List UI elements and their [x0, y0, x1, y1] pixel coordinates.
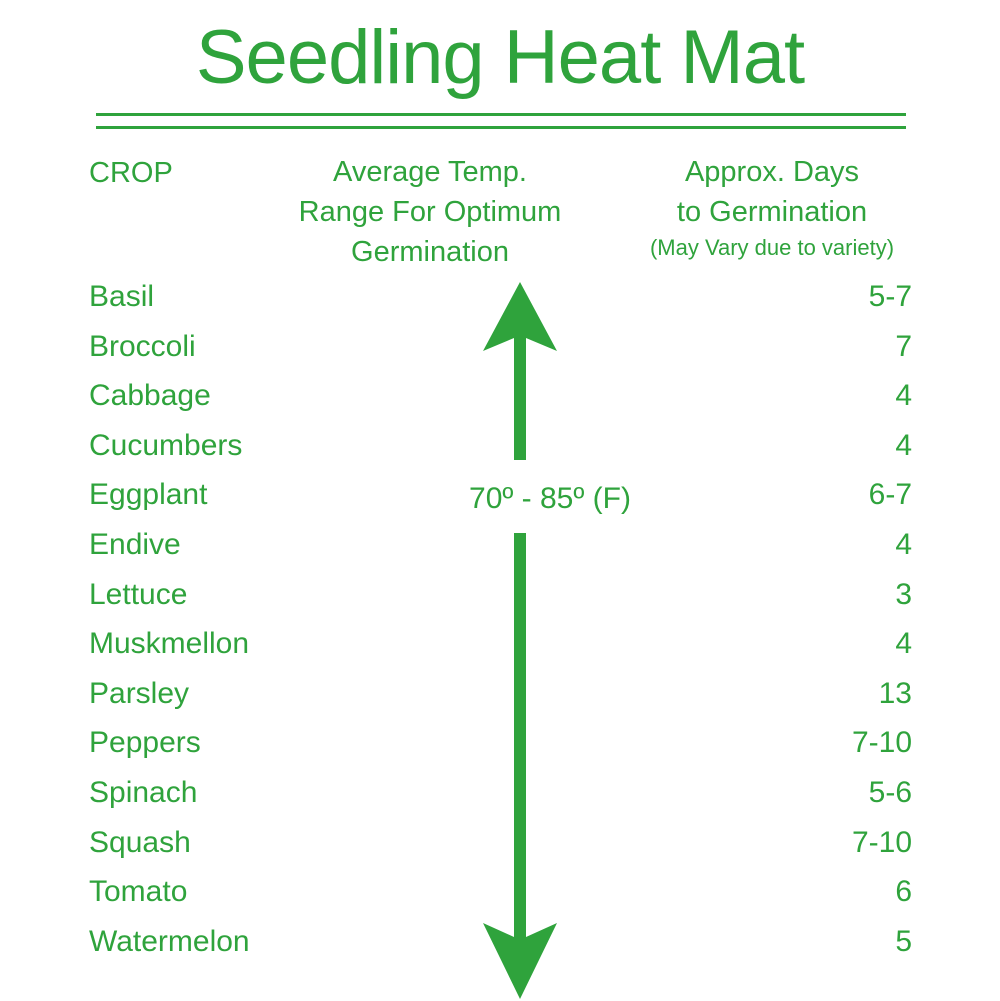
days-to-germination: 4	[895, 525, 912, 565]
crop-name: Tomato	[89, 872, 187, 912]
days-to-germination: 3	[895, 575, 912, 615]
column-header-temperature: Average Temp. Range For Optimum Germinat…	[280, 152, 580, 272]
crop-name: Eggplant	[89, 475, 207, 515]
crop-name: Endive	[89, 525, 181, 565]
arrow-up-icon	[476, 280, 564, 462]
crop-name: Spinach	[89, 773, 197, 813]
days-to-germination: 7-10	[852, 823, 912, 863]
page-title: Seedling Heat Mat	[90, 18, 910, 98]
column-header-days-line1: Approx. Days	[632, 152, 912, 192]
days-to-germination: 4	[895, 624, 912, 664]
days-to-germination: 7	[895, 327, 912, 367]
column-header-crop: CROP	[89, 154, 173, 192]
column-header-temperature-line3: Germination	[280, 232, 580, 272]
crop-name: Parsley	[89, 674, 189, 714]
days-to-germination: 13	[879, 674, 912, 714]
days-to-germination: 5-6	[869, 773, 912, 813]
column-header-temperature-line1: Average Temp.	[280, 152, 580, 192]
column-header-days-note: (May Vary due to variety)	[632, 232, 912, 264]
days-to-germination: 5	[895, 922, 912, 962]
crop-name: Basil	[89, 277, 154, 317]
crop-name: Watermelon	[89, 922, 250, 962]
crop-name: Cucumbers	[89, 426, 242, 466]
arrow-down-icon	[476, 531, 564, 1001]
days-to-germination: 4	[895, 426, 912, 466]
days-to-germination: 6	[895, 872, 912, 912]
temperature-range-value: 70º - 85º (F)	[380, 481, 720, 517]
title-divider-lower	[96, 126, 906, 129]
column-header-days: Approx. Days to Germination (May Vary du…	[632, 152, 912, 264]
column-header-temperature-line2: Range For Optimum	[280, 192, 580, 232]
days-to-germination: 7-10	[852, 723, 912, 763]
column-header-days-line2: to Germination	[632, 192, 912, 232]
days-to-germination: 4	[895, 376, 912, 416]
title-divider-upper	[96, 113, 906, 116]
crop-name: Peppers	[89, 723, 201, 763]
crop-name: Squash	[89, 823, 191, 863]
crop-name: Muskmellon	[89, 624, 249, 664]
days-to-germination: 6-7	[869, 475, 912, 515]
seedling-heat-mat-poster: Seedling Heat Mat CROP Average Temp. Ran…	[0, 0, 1000, 1000]
crop-name: Cabbage	[89, 376, 211, 416]
crop-name: Lettuce	[89, 575, 187, 615]
days-to-germination: 5-7	[869, 277, 912, 317]
crop-name: Broccoli	[89, 327, 196, 367]
